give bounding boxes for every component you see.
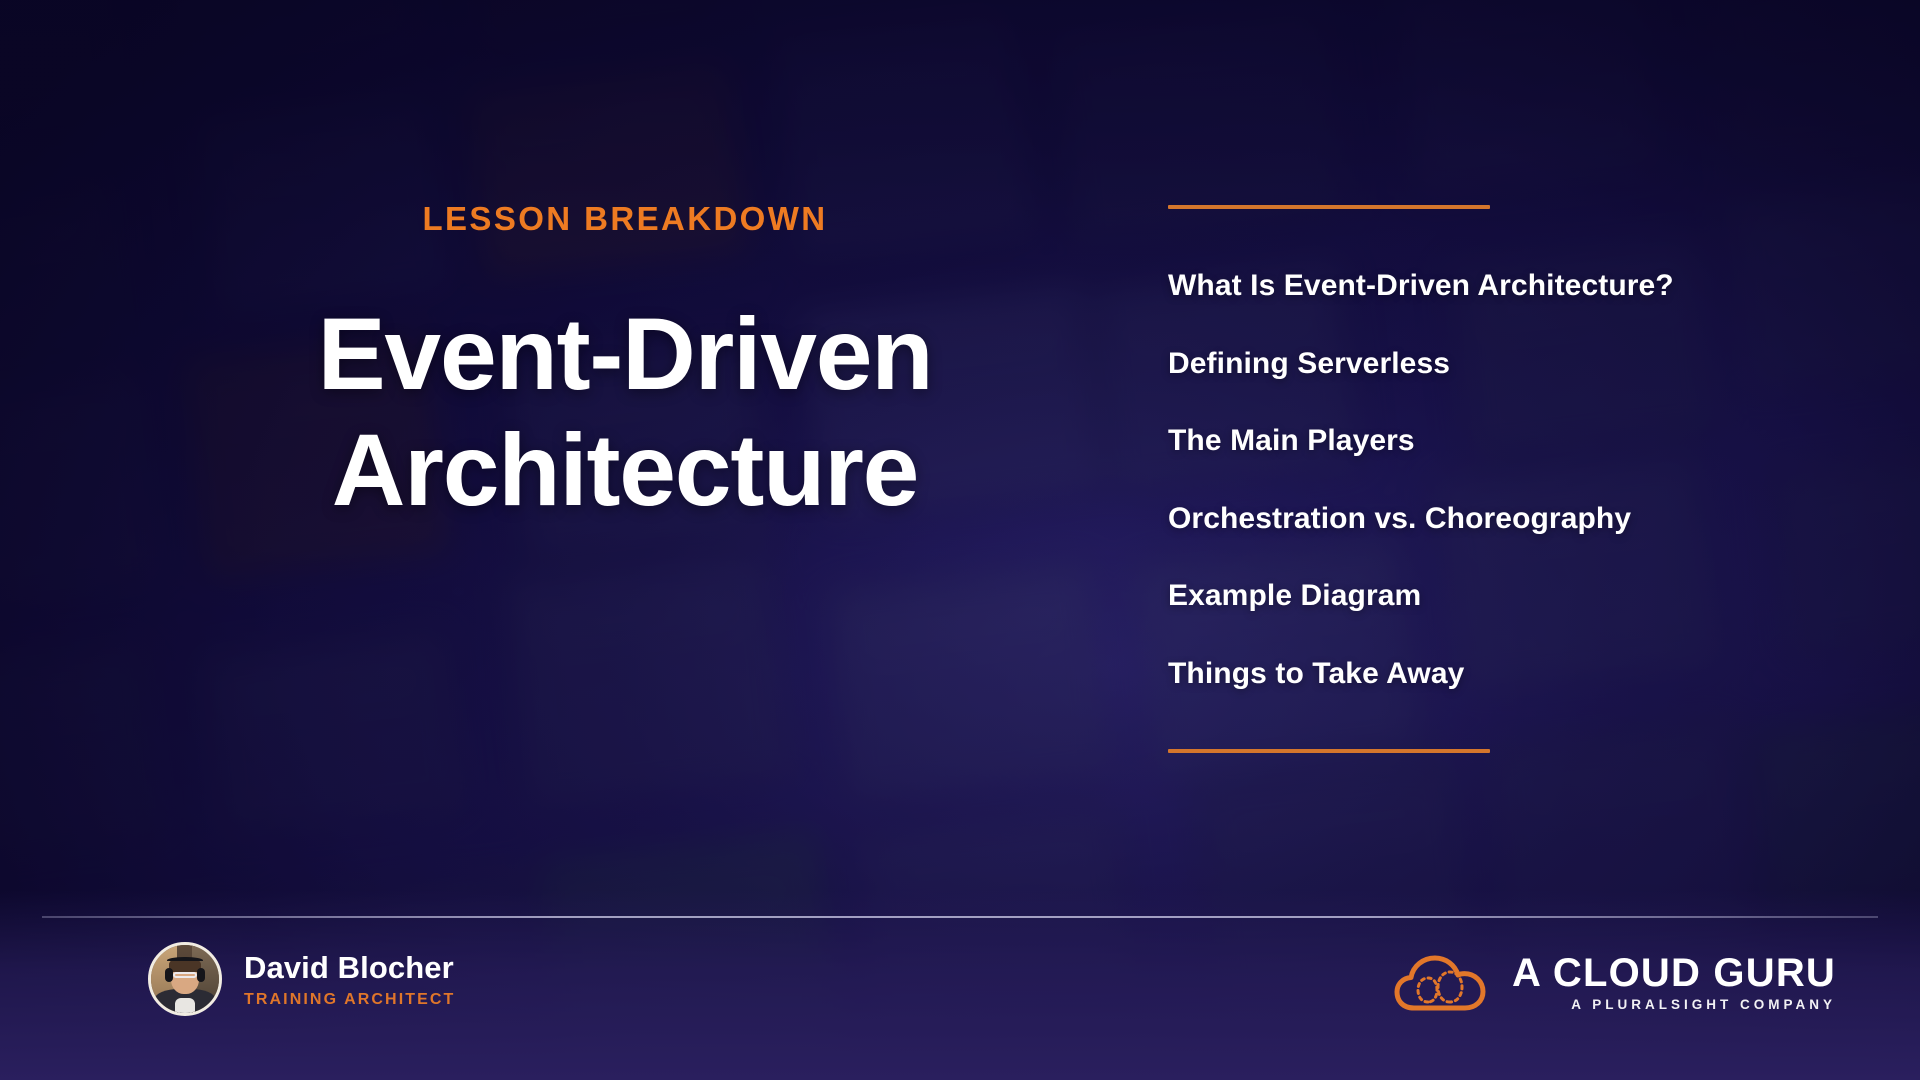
agenda-list: What Is Event-Driven Architecture? Defin…	[1168, 269, 1788, 691]
agenda-rule-top	[1168, 205, 1490, 209]
agenda-item: Things to Take Away	[1168, 657, 1788, 691]
title-column: LESSON BREAKDOWN Event-Driven Architectu…	[150, 150, 1100, 770]
avatar	[148, 942, 222, 1016]
brand-logo: A CLOUD GURU A PLURALSIGHT COMPANY	[1394, 950, 1836, 1014]
presenter-name: David Blocher	[244, 950, 455, 986]
eyebrow-label: LESSON BREAKDOWN	[422, 200, 827, 238]
cloud-icon	[1394, 950, 1488, 1014]
agenda-column: What Is Event-Driven Architecture? Defin…	[1168, 205, 1788, 753]
agenda-item: The Main Players	[1168, 424, 1788, 458]
presenter-text: David Blocher TRAINING ARCHITECT	[244, 950, 455, 1009]
presenter-role: TRAINING ARCHITECT	[244, 991, 455, 1009]
agenda-item: Example Diagram	[1168, 579, 1788, 613]
agenda-item: Defining Serverless	[1168, 347, 1788, 381]
agenda-rule-bottom	[1168, 749, 1490, 753]
logo-text: A CLOUD GURU A PLURALSIGHT COMPANY	[1512, 953, 1836, 1012]
logo-subtitle: A PLURALSIGHT COMPANY	[1571, 998, 1836, 1012]
agenda-item: What Is Event-Driven Architecture?	[1168, 269, 1788, 303]
logo-name: A CLOUD GURU	[1512, 953, 1836, 993]
footer-divider	[42, 916, 1878, 918]
slide-root: LESSON BREAKDOWN Event-Driven Architectu…	[0, 0, 1920, 1080]
presenter-block: David Blocher TRAINING ARCHITECT	[148, 942, 455, 1016]
page-title: Event-Driven Architecture	[275, 296, 975, 529]
agenda-item: Orchestration vs. Choreography	[1168, 502, 1788, 536]
slide-content: LESSON BREAKDOWN Event-Driven Architectu…	[0, 0, 1920, 1080]
